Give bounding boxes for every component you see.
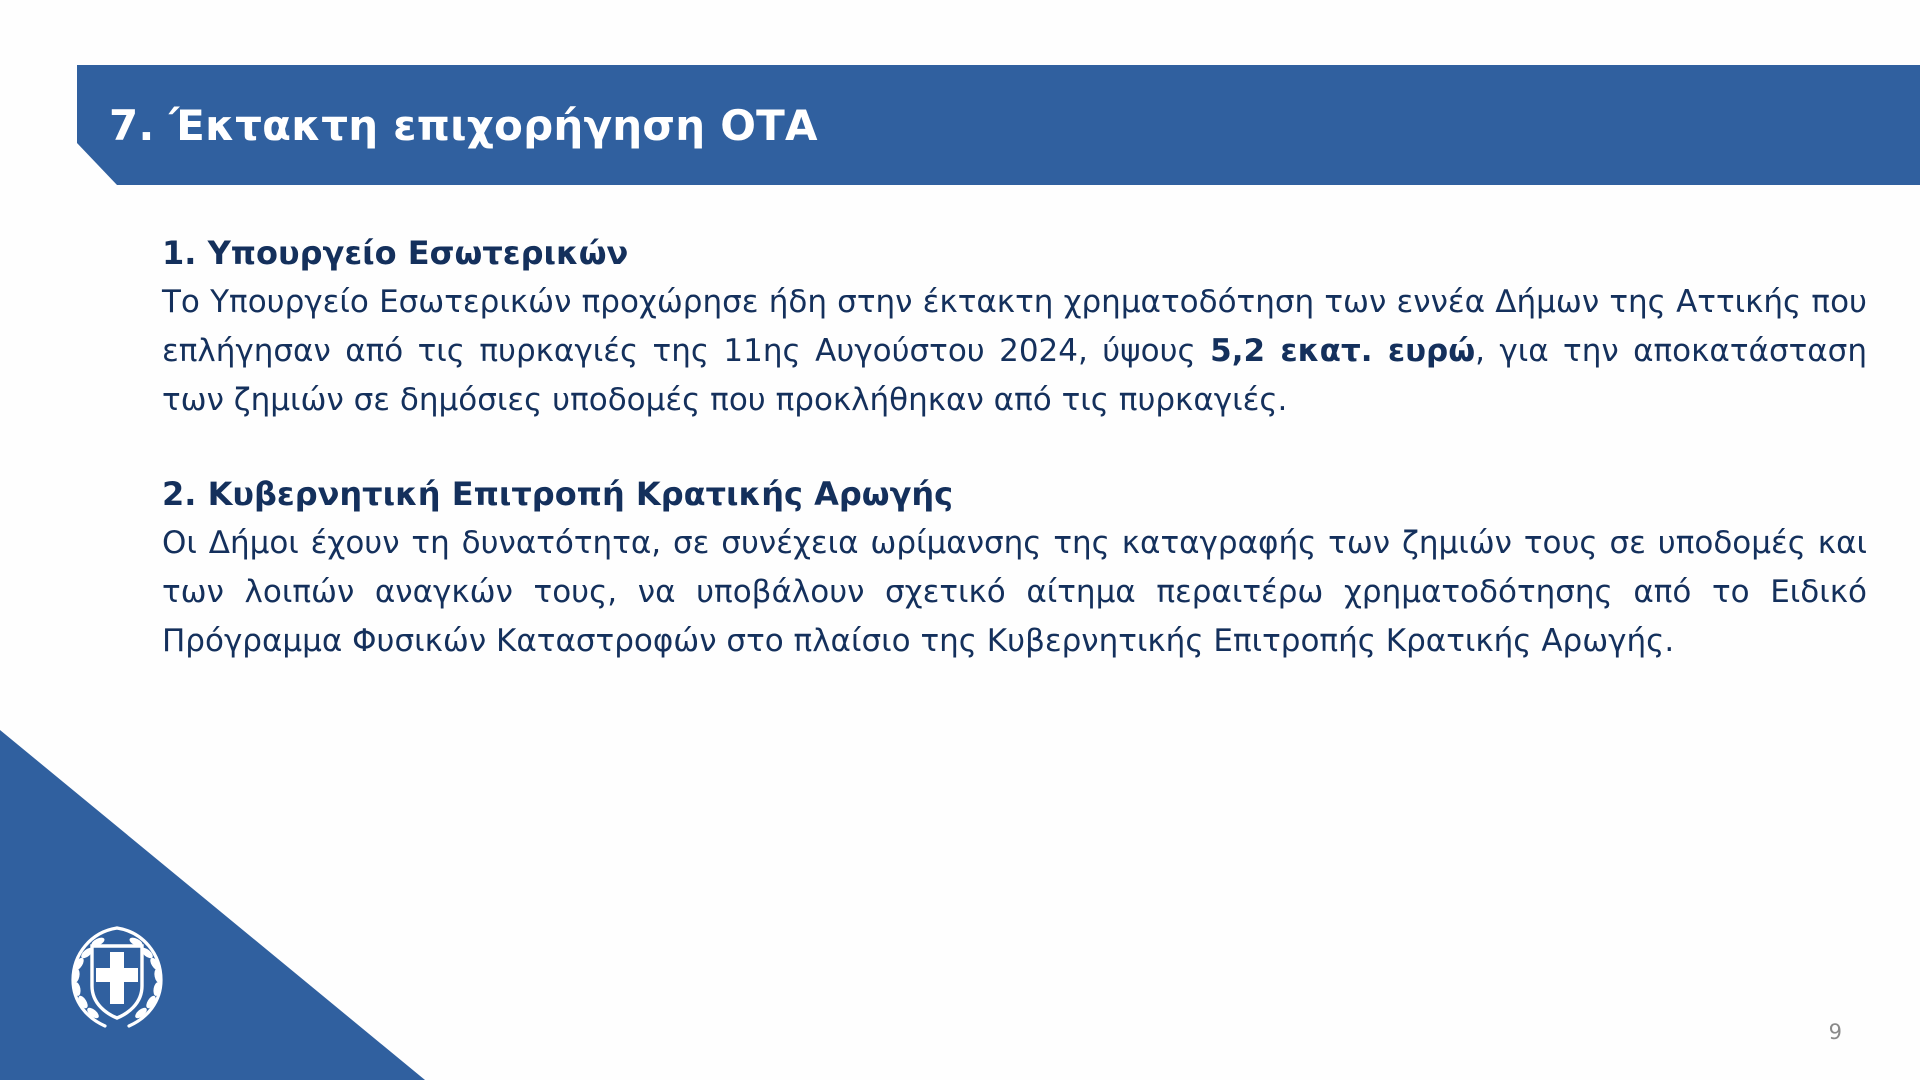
- section-1-body-highlight: 5,2 εκατ. ευρώ: [1210, 333, 1475, 369]
- slide-title-banner: 7. Έκτακτη επιχορήγηση ΟΤΑ: [77, 65, 1920, 185]
- section-2: 2. Κυβερνητική Επιτροπή Κρατικής Αρωγής …: [162, 473, 1867, 666]
- section-2-body-part-1: Οι Δήμοι έχουν τη δυνατότητα, σε συνέχει…: [162, 525, 1867, 659]
- hellenic-republic-emblem-icon: [55, 914, 179, 1038]
- page-title: 7. Έκτακτη επιχορήγηση ΟΤΑ: [77, 101, 818, 150]
- slide-root: 7. Έκτακτη επιχορήγηση ΟΤΑ 1. Υπουργείο …: [0, 0, 1920, 1080]
- section-2-heading: 2. Κυβερνητική Επιτροπή Κρατικής Αρωγής: [162, 473, 1867, 515]
- section-1: 1. Υπουργείο Εσωτερικών Το Υπουργείο Εσω…: [162, 232, 1867, 425]
- slide-content: 1. Υπουργείο Εσωτερικών Το Υπουργείο Εσω…: [162, 232, 1867, 666]
- section-1-heading: 1. Υπουργείο Εσωτερικών: [162, 232, 1867, 274]
- section-2-body: Οι Δήμοι έχουν τη δυνατότητα, σε συνέχει…: [162, 519, 1867, 666]
- section-1-body: Το Υπουργείο Εσωτερικών προχώρησε ήδη στ…: [162, 278, 1867, 425]
- page-number: 9: [1829, 1020, 1842, 1044]
